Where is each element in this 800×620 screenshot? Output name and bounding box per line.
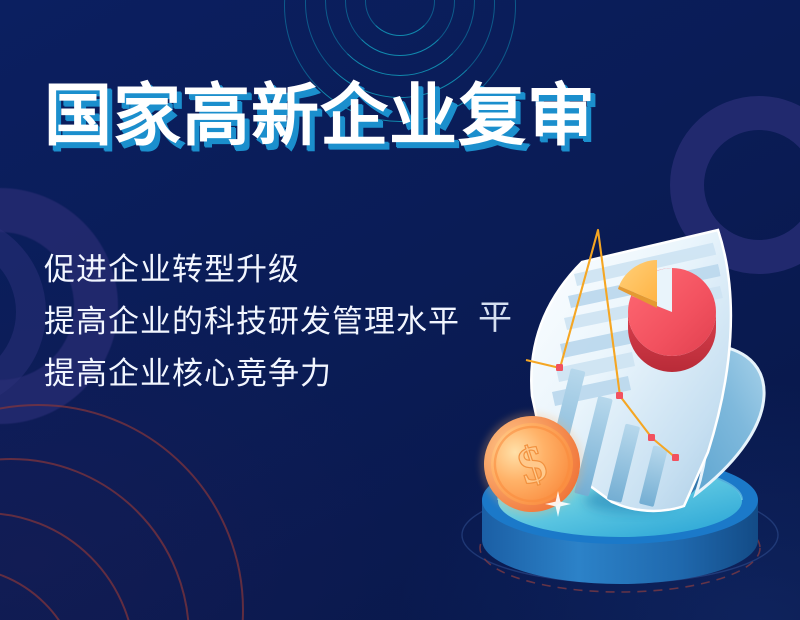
top-cutoff-text-strip: 税收优惠 [0, 0, 800, 5]
page-title: 国家高新企业复审 [44, 82, 596, 151]
benefit-list: 促进企业转型升级 提高企业的科技研发管理水平 提高企业核心竞争力 [44, 244, 460, 400]
stray-background-glyph: 平 [478, 290, 512, 339]
decor-ring-left-2 [0, 214, 46, 410]
illustration-document-charts-podium: $ [470, 200, 800, 620]
benefit-item-1: 促进企业转型升级 [44, 244, 460, 296]
benefit-item-2: 提高企业的科技研发管理水平 [44, 296, 460, 348]
poster-root: 税收优惠 [0, 0, 800, 620]
decor-bottom-left-arcs [0, 396, 252, 620]
benefit-item-3: 提高企业核心竞争力 [44, 348, 460, 400]
